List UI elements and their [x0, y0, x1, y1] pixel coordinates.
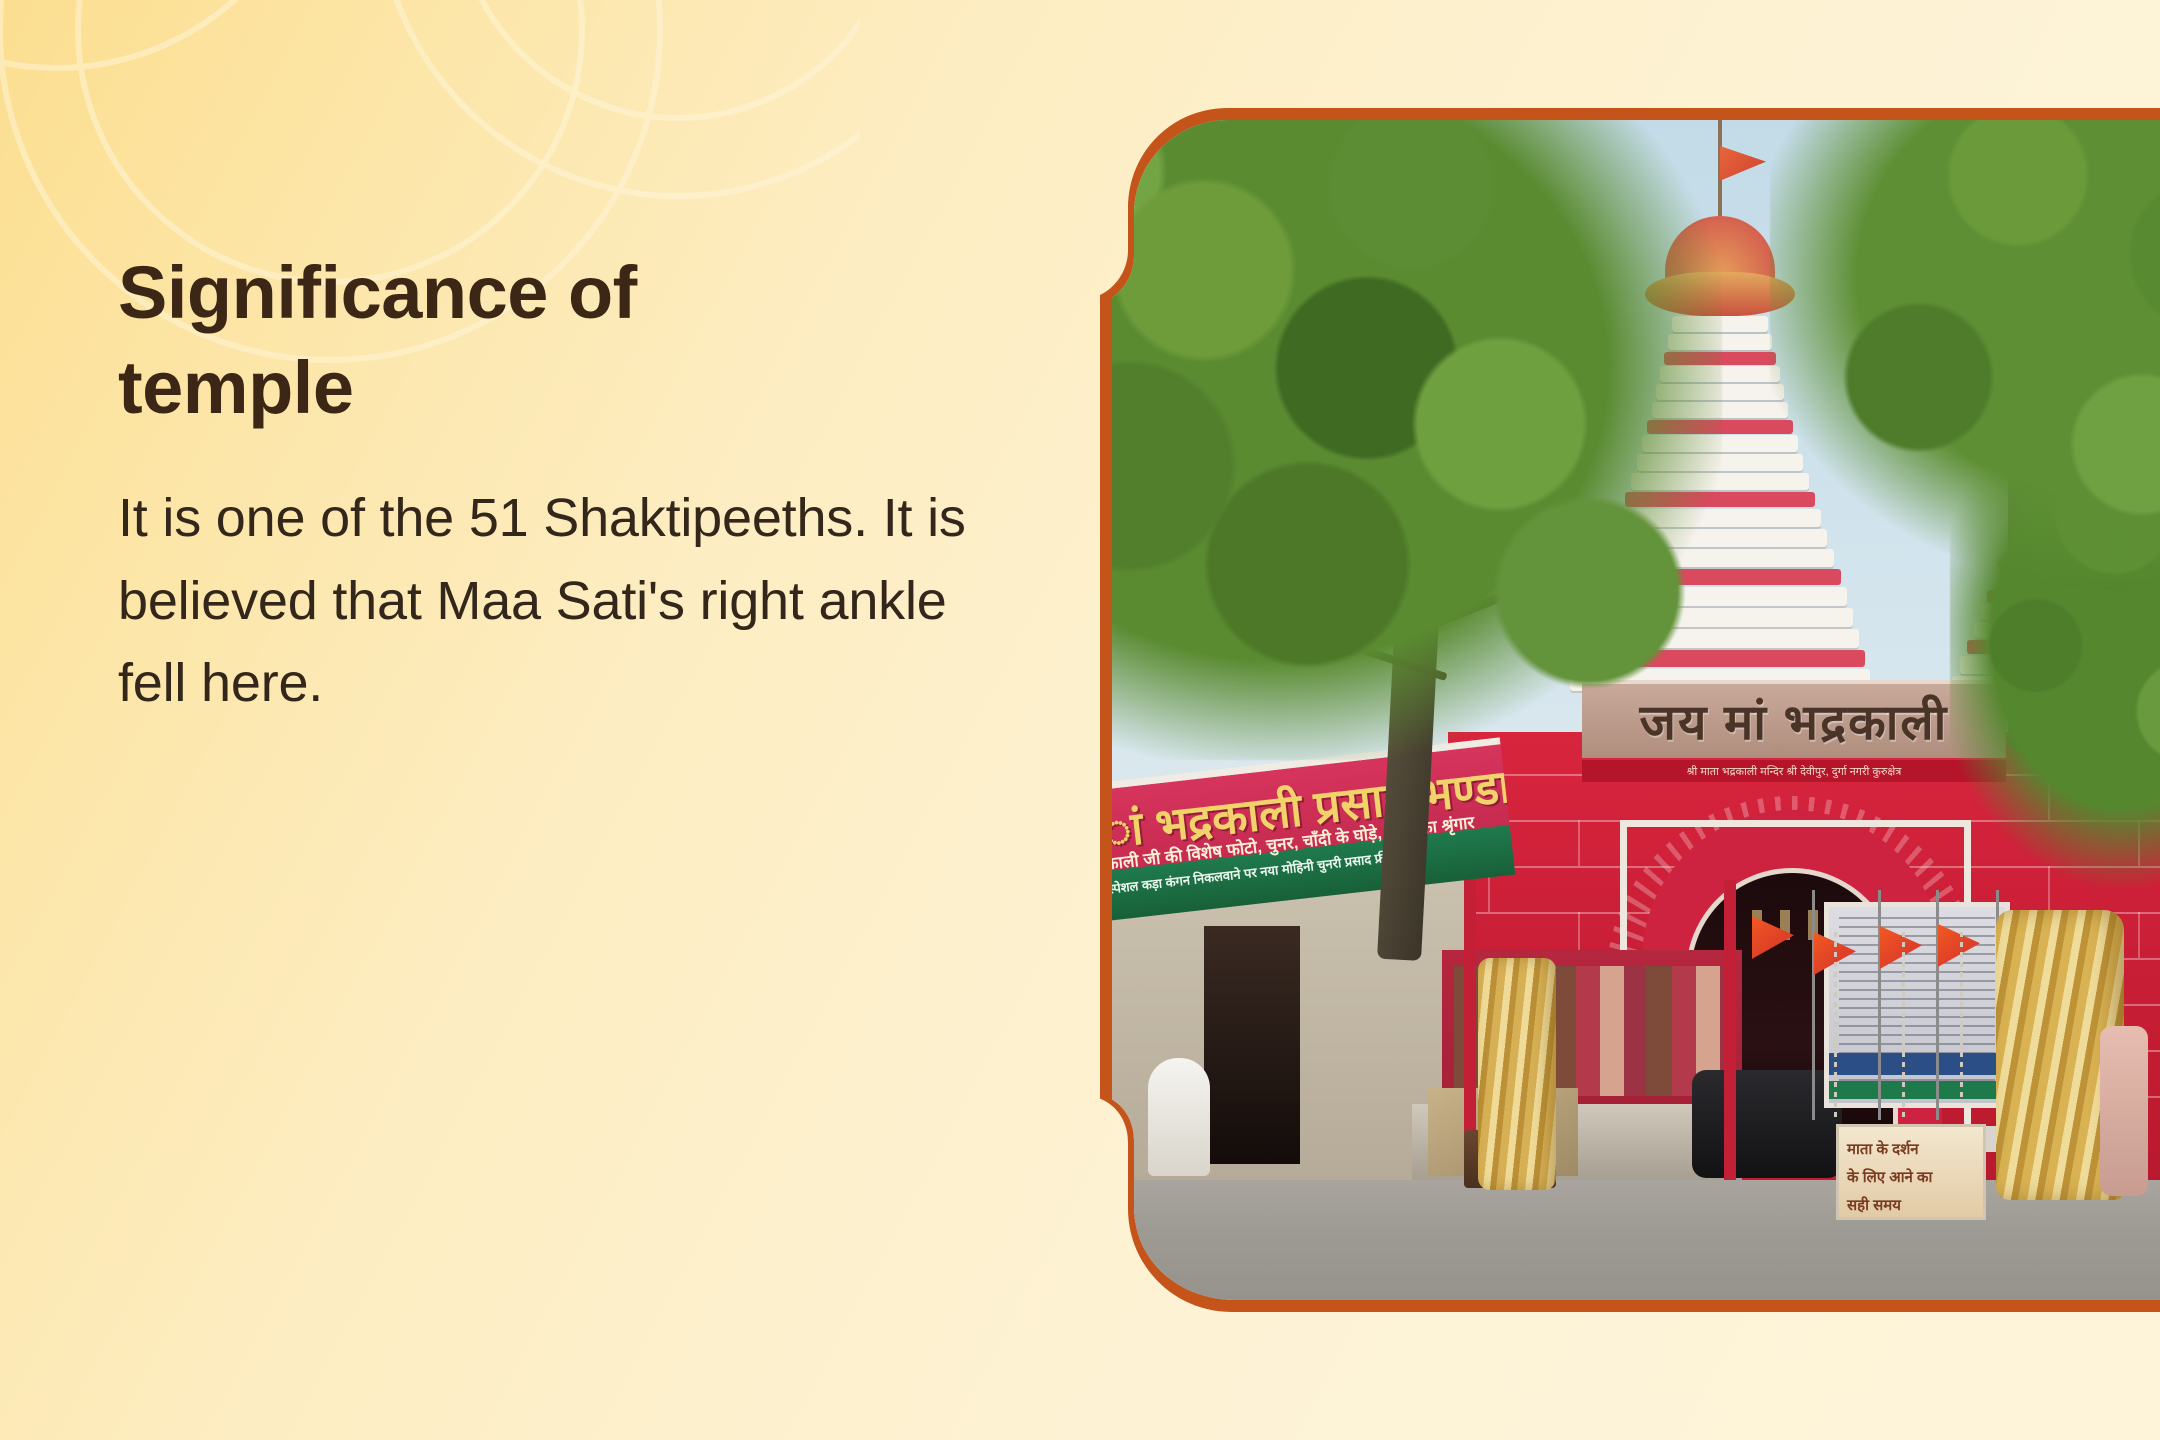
body-paragraph: It is one of the 51 Shaktipeeths. It is …: [118, 477, 978, 723]
tree-canopy-left: [1112, 120, 1722, 760]
page-title: Significance of temple: [118, 246, 818, 435]
temple-sub-sign: श्री माता भद्रकाली मन्दिर श्री देवीपुर, …: [1582, 760, 2006, 782]
temple-sub-sign-text: श्री माता भद्रकाली मन्दिर श्री देवीपुर, …: [1687, 764, 1902, 779]
info-poster: माता के दर्शन के लिए आने का सही समय: [1836, 1124, 1986, 1220]
temple-flag-icon: [1720, 146, 1766, 202]
poster-line-3: सही समय: [1847, 1195, 1901, 1215]
shop-doorway: [1204, 926, 1300, 1164]
poster-line-2: के लिए आने का: [1847, 1167, 1932, 1187]
person-in-white: [1148, 1058, 1210, 1176]
notice-board: [1824, 902, 2010, 1108]
pink-cloth: [2100, 1026, 2148, 1196]
temple-photo: जय मां भद्रकाली श्री माता भद्रकाली मन्दि…: [1112, 120, 2160, 1306]
tree-canopy-right: [1770, 120, 2160, 590]
temple-photo-card[interactable]: जय मां भद्रकाली श्री माता भद्रकाली मन्दि…: [1100, 108, 2160, 1318]
scooter: [1692, 1070, 1842, 1178]
temple-scene: जय मां भद्रकाली श्री माता भद्रकाली मन्दि…: [1112, 120, 2160, 1306]
poster-line-1: माता के दर्शन: [1847, 1139, 1919, 1159]
pavement: [1112, 1180, 2160, 1306]
text-column: Significance of temple It is one of the …: [118, 246, 1018, 724]
gold-wrapped-tree-trunk: [1478, 958, 1556, 1190]
